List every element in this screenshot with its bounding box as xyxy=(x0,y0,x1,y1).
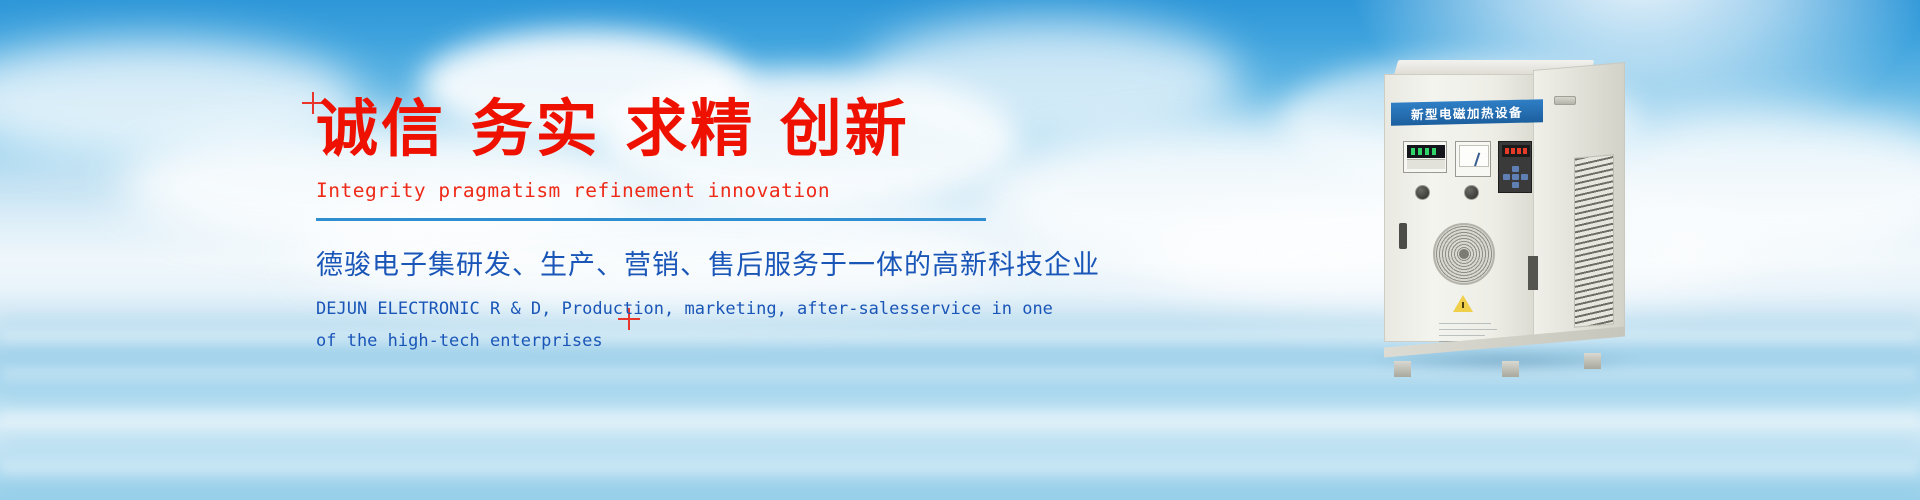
machine-front-panel: 新型电磁加热设备 xyxy=(1384,74,1534,342)
banner-text-block: 诚信 务实 求精 创新 Integrity pragmatism refinem… xyxy=(316,96,1016,356)
door-handle-icon xyxy=(1399,223,1407,249)
fan-grille-icon xyxy=(1433,223,1495,285)
digit-segment xyxy=(1425,148,1429,155)
sea-streak xyxy=(0,392,1920,402)
sea-streak xyxy=(0,484,1920,496)
display-screen xyxy=(1407,145,1445,158)
banner-headline-english: Integrity pragmatism refinement innovati… xyxy=(316,179,1016,202)
horizontal-divider xyxy=(316,218,986,221)
keypad-key-up[interactable] xyxy=(1512,166,1519,172)
spec-line xyxy=(1439,329,1497,330)
digital-display-icon xyxy=(1403,141,1447,173)
keypad-keys[interactable] xyxy=(1503,166,1529,188)
machine-name-plate: 新型电磁加热设备 xyxy=(1391,99,1543,125)
keypad-screen xyxy=(1502,145,1530,157)
digit-segment xyxy=(1411,148,1415,155)
control-knob-icon[interactable] xyxy=(1415,185,1430,200)
banner-headline: 诚信 务实 求精 创新 xyxy=(316,96,1016,163)
control-knob-icon[interactable] xyxy=(1464,185,1479,200)
banner-tagline-chinese: 德骏电子集研发、生产、营销、售后服务于一体的高新科技企业 xyxy=(316,243,1016,282)
product-image-heating-machine: 新型电磁加热设备 xyxy=(1378,60,1630,365)
keypad-key-left[interactable] xyxy=(1503,174,1510,180)
keypad-digit xyxy=(1511,148,1515,154)
banner-tagline-english-line2: of the high-tech enterprises xyxy=(316,327,1016,357)
machine-name-plate-text: 新型电磁加热设备 xyxy=(1411,102,1523,124)
ventilation-grille-icon xyxy=(1574,154,1614,327)
analog-gauge-icon xyxy=(1455,141,1491,177)
spec-line xyxy=(1439,323,1491,324)
side-access-slot xyxy=(1528,256,1538,290)
keypad-digit xyxy=(1505,148,1509,154)
control-keypad-icon[interactable] xyxy=(1498,141,1532,193)
banner-tagline-english-line1: DEJUN ELECTRONIC R & D, Production, mark… xyxy=(316,295,1016,325)
sea-streak xyxy=(0,412,1920,426)
display-buttons[interactable] xyxy=(1407,159,1445,169)
keypad-key-right[interactable] xyxy=(1521,174,1528,180)
digit-segment xyxy=(1418,148,1422,155)
spec-line xyxy=(1439,335,1485,336)
keypad-digit xyxy=(1523,148,1527,154)
sea-streak xyxy=(0,438,1920,449)
keypad-key-enter[interactable] xyxy=(1512,174,1519,180)
machine-foot xyxy=(1394,361,1411,377)
machine-foot xyxy=(1584,353,1601,369)
promotional-banner: 诚信 务实 求精 创新 Integrity pragmatism refinem… xyxy=(0,0,1920,500)
keypad-key-down[interactable] xyxy=(1512,182,1519,188)
gauge-face xyxy=(1459,145,1489,167)
machine-foot xyxy=(1502,361,1519,377)
sea-streak xyxy=(0,460,1920,476)
keypad-digit xyxy=(1517,148,1521,154)
digit-segment xyxy=(1432,148,1436,155)
warning-triangle-icon xyxy=(1453,295,1473,312)
gauge-needle-icon xyxy=(1474,152,1480,166)
side-handle-icon xyxy=(1554,96,1576,105)
